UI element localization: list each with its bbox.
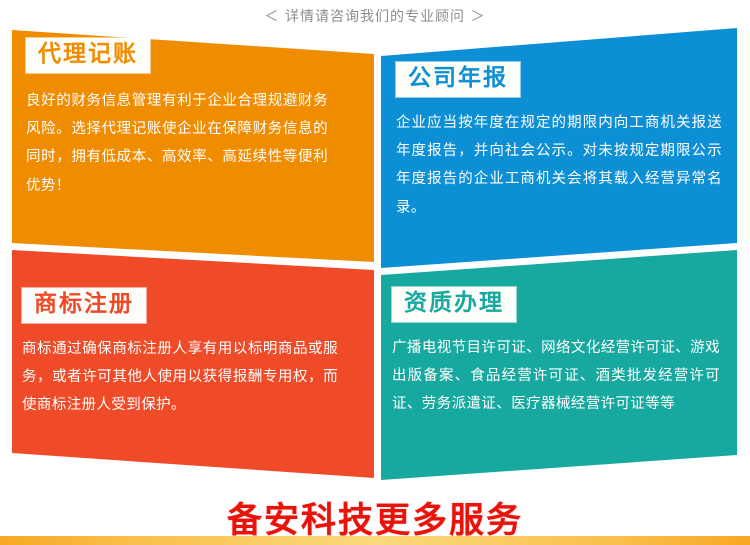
panel-body-trademark: 商标通过确保商标注册人享有用以标明商品或服务，或者许可其他人使用以获得报酬专用权… [22,335,338,420]
panel-trademark[interactable]: 商标注册 商标通过确保商标注册人享有用以标明商品或服务，或者许可其他人使用以获得… [22,288,344,420]
panel-title-annual-report: 公司年报 [396,62,520,97]
panel-body-annual-report: 企业应当按年度在规定的期限内向工商机关报送年度报告，并向社会公示。对未按规定期限… [396,109,722,222]
panel-title-qualification: 资质办理 [392,287,516,322]
panel-title-trademark: 商标注册 [22,288,146,323]
footer-gold-bar [0,536,750,545]
panel-bookkeeping[interactable]: 代理记账 良好的财务信息管理有利于企业合理规避财务风险。选择代理记账使企业在保障… [26,38,338,200]
panel-annual-report[interactable]: 公司年报 企业应当按年度在规定的期限内向工商机关报送年度报告，并向社会公示。对未… [396,62,726,222]
panel-body-qualification: 广播电视节目许可证、网络文化经营许可证、游戏出版备案、食品经营许可证、酒类批发经… [392,334,720,419]
panel-qualification[interactable]: 资质办理 广播电视节目许可证、网络文化经营许可证、游戏出版备案、食品经营许可证、… [392,287,724,419]
consultant-tagline: ＜ 详情请咨询我们的专业顾问 ＞ [0,6,750,26]
poster-canvas: ＜ 详情请咨询我们的专业顾问 ＞ 代理记账 良好的财务信息管理有利于企业合理规避… [0,0,750,545]
panel-title-bookkeeping: 代理记账 [26,38,150,73]
panel-body-bookkeeping: 良好的财务信息管理有利于企业合理规避财务风险。选择代理记账使企业在保障财务信息的… [26,87,328,200]
